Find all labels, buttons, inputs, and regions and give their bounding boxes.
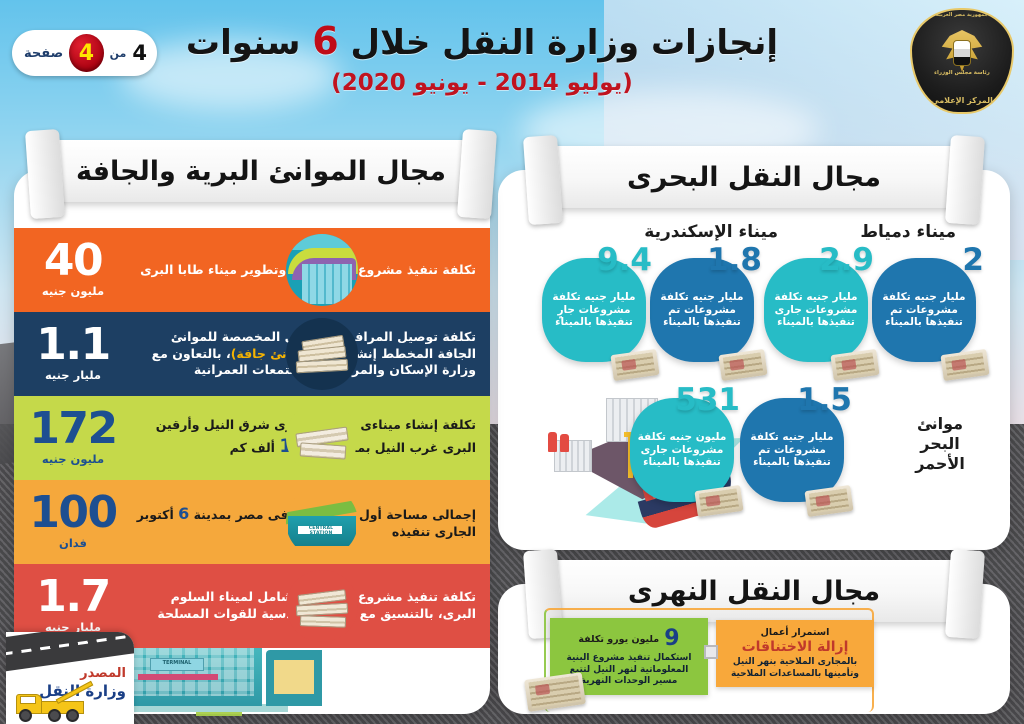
page-header: إنجازات وزارة النقل خلال 6 سنوات (يوليو … <box>0 0 1024 122</box>
river-card-line2: بالمجارى الملاحية بنهر النيل وتأمينها با… <box>724 657 866 680</box>
ports-row-dry-ports-utilities: 1.1 مليار جنيه تكلفة توصيل المرافق بالأر… <box>14 312 490 396</box>
ports-row-value: 1.1 مليار جنيه <box>14 326 126 382</box>
scroll-curl-left-icon <box>25 129 65 219</box>
river-card-headline: إزالة الاختناقات <box>724 639 866 657</box>
page-title: إنجازات وزارة النقل خلال 6 سنوات <box>172 22 792 62</box>
ports-row-text-highlight: 6 <box>178 504 189 523</box>
page-indicator-total: 4 <box>132 41 147 65</box>
stat-number: 2 <box>962 242 984 278</box>
ports-row-number: 40 <box>20 242 126 281</box>
stat-number: 2.9 <box>819 242 874 278</box>
stat-number: 531 <box>675 382 740 418</box>
page-indicator-current: 4 <box>69 34 103 72</box>
money-stack-icon <box>286 570 358 642</box>
stat-text: مليار جنيه تكلفة مشروعات تم تنفيذها بالم… <box>740 431 844 469</box>
page-title-number: 6 <box>312 19 338 63</box>
land-dry-ports-banner-title: مجال الموانئ البرية والجافة <box>76 156 446 187</box>
source-badge: المصدر وزارة النقل <box>6 632 134 724</box>
stat-text: مليار جنيه تكلفة مشروعات تم تنفيذها بالم… <box>872 291 976 329</box>
stat-number: 1.8 <box>707 242 762 278</box>
stat-text: مليون جنيه تكلفة مشروعات جارى تنفيذها با… <box>630 431 734 469</box>
port-label-damietta: ميناء دمياط <box>860 222 956 242</box>
scroll-curl-left-icon <box>523 135 563 225</box>
page-indicator: صفحة 4 من 4 <box>12 30 157 76</box>
stat-number: 1.5 <box>797 382 852 418</box>
river-transport-banner-title: مجال النقل النهرى <box>628 576 880 607</box>
page-title-part1: إنجازات وزارة النقل خلال <box>351 23 779 63</box>
ports-row-number: 172 <box>20 410 126 449</box>
ports-row-number: 1.1 <box>20 326 126 365</box>
storage-tank-icon <box>560 434 569 452</box>
scroll-curl-right-icon <box>945 135 985 225</box>
station-sign-text: CENTRAL STATION <box>299 526 343 536</box>
river-card-line1: استمرار أعمال <box>724 627 866 639</box>
central-station-building-icon: CENTRAL STATION <box>286 486 358 558</box>
ports-row-qostol-argeen: 172 مليون جنيه تكلفة إنشاء ميناءى قسطل ا… <box>14 396 490 480</box>
page-indicator-label: صفحة <box>24 46 63 61</box>
sea-transport-banner: مجال النقل البحرى <box>544 146 964 208</box>
page-indicator-of-label: من <box>110 47 127 60</box>
river-card-line1: مليون يورو تكلفة <box>578 634 659 645</box>
terminal-building-icon <box>286 234 358 306</box>
logo-bottom-text: المركز الإعلامي <box>910 96 1014 105</box>
river-connector-node <box>704 645 718 659</box>
ports-row-value: 40 مليون جنيه <box>14 242 126 298</box>
river-card-congestion: استمرار أعمال إزالة الاختناقات بالمجارى … <box>716 620 874 687</box>
source-label: المصدر <box>80 666 126 681</box>
ports-row-number: 100 <box>20 494 126 533</box>
ports-row-value: 100 فدان <box>14 494 126 550</box>
truck-wheel-icon <box>66 709 79 722</box>
river-card-heading: 9 مليون يورو تكلفة <box>558 625 700 653</box>
scroll-curl-right-icon <box>945 549 985 639</box>
page-subtitle: (يوليو 2014 - يونيو 2020) <box>172 70 792 96</box>
stat-bubble-redsea-ongoing: 531 مليون جنيه تكلفة مشروعات جارى تنفيذه… <box>630 398 734 502</box>
logo-top-text: جمهورية مصر العربية <box>910 12 1014 18</box>
truck-wheel-icon <box>48 709 61 722</box>
terminal-sign-text: TERMINAL <box>150 660 204 666</box>
river-card-number: 9 <box>664 626 679 651</box>
canopy-icon <box>138 674 218 680</box>
stat-text: مليار جنيه تكلفة مشروعات جارى تنفيذها با… <box>764 291 868 329</box>
ports-row-number: 1.7 <box>20 578 126 617</box>
land-dry-ports-banner: مجال الموانئ البرية والجافة <box>46 140 476 202</box>
port-label-red-sea: موانئ البحر الأحمر <box>898 414 982 474</box>
stat-bubble-alexandria-ongoing: 9.4 مليار جنيه تكلفة مشروعات جارٍ تنفيذه… <box>542 258 646 362</box>
stat-text: مليار جنيه تكلفة مشروعات جارٍ تنفيذها با… <box>542 291 646 329</box>
stat-text: مليار جنيه تكلفة مشروعات تم تنفيذها بالم… <box>650 291 754 329</box>
stat-bubble-damietta-done: 2 مليار جنيه تكلفة مشروعات تم تنفيذها با… <box>872 258 976 362</box>
page-title-part2: سنوات <box>186 23 300 63</box>
logo-mid-text: رئاسة مجلس الوزراء <box>910 70 1014 76</box>
eagle-body-icon <box>953 40 971 66</box>
glass-facade-icon <box>302 264 352 304</box>
port-label-alexandria: ميناء الإسكندرية <box>644 222 778 242</box>
stat-bubble-redsea-done: 1.5 مليار جنيه تكلفة مشروعات تم تنفيذها … <box>740 398 844 502</box>
crane-truck-icon <box>14 684 106 722</box>
sea-transport-banner-title: مجال النقل البحرى <box>627 162 881 193</box>
storage-tank-icon <box>548 432 557 452</box>
ports-row-october-dry-port: 100 فدان إجمالى مساحة أول ميناء جاف فى م… <box>14 480 490 564</box>
stat-bubble-alexandria-done: 1.8 مليار جنيه تكلفة مشروعات تم تنفيذها … <box>650 258 754 362</box>
egypt-emblem-logo: جمهورية مصر العربية رئاسة مجلس الوزراء ا… <box>910 8 1014 114</box>
truck-window-icon <box>20 696 36 704</box>
ports-row-value: 1.7 مليار جنيه <box>14 578 126 634</box>
truck-wheel-icon <box>19 709 32 722</box>
stat-number: 9.4 <box>597 242 652 278</box>
ports-row-taba: 40 مليون جنيه تكلفة تنفيذ مشروع رفع كفاء… <box>14 228 490 312</box>
money-stack-icon <box>286 318 358 390</box>
ports-row-value: 172 مليون جنيه <box>14 410 126 466</box>
scroll-curl-right-icon <box>457 129 497 219</box>
money-stack-icon <box>286 402 358 474</box>
ports-row-text-b: ألف كم <box>230 440 275 455</box>
ports-row-unit: مليون جنيه <box>20 284 126 298</box>
side-window-icon <box>274 660 314 694</box>
stat-bubble-damietta-ongoing: 2.9 مليار جنيه تكلفة مشروعات جارى تنفيذه… <box>764 258 868 362</box>
